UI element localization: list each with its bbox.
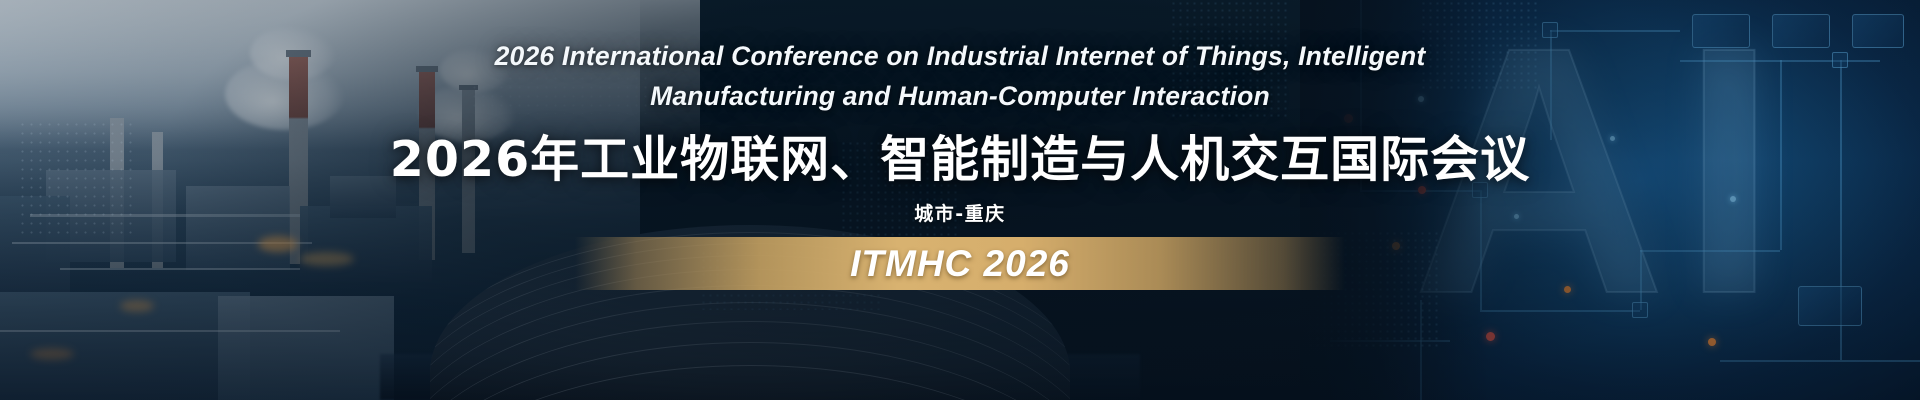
english-title-line-1: 2026 International Conference on Industr… [0,36,1920,76]
acronym-label: ITMHC 2026 [850,243,1070,285]
conference-banner: AI AI [0,0,1920,400]
banner-content: 2026 International Conference on Industr… [0,0,1920,400]
english-title: 2026 International Conference on Industr… [0,36,1920,116]
chinese-title: 2026年工业物联网、智能制造与人机交互国际会议 [0,131,1920,189]
acronym-banner-bar: ITMHC 2026 [575,237,1345,290]
city-label: 城市-重庆 [0,199,1920,226]
english-title-line-2: Manufacturing and Human-Computer Interac… [0,76,1920,116]
